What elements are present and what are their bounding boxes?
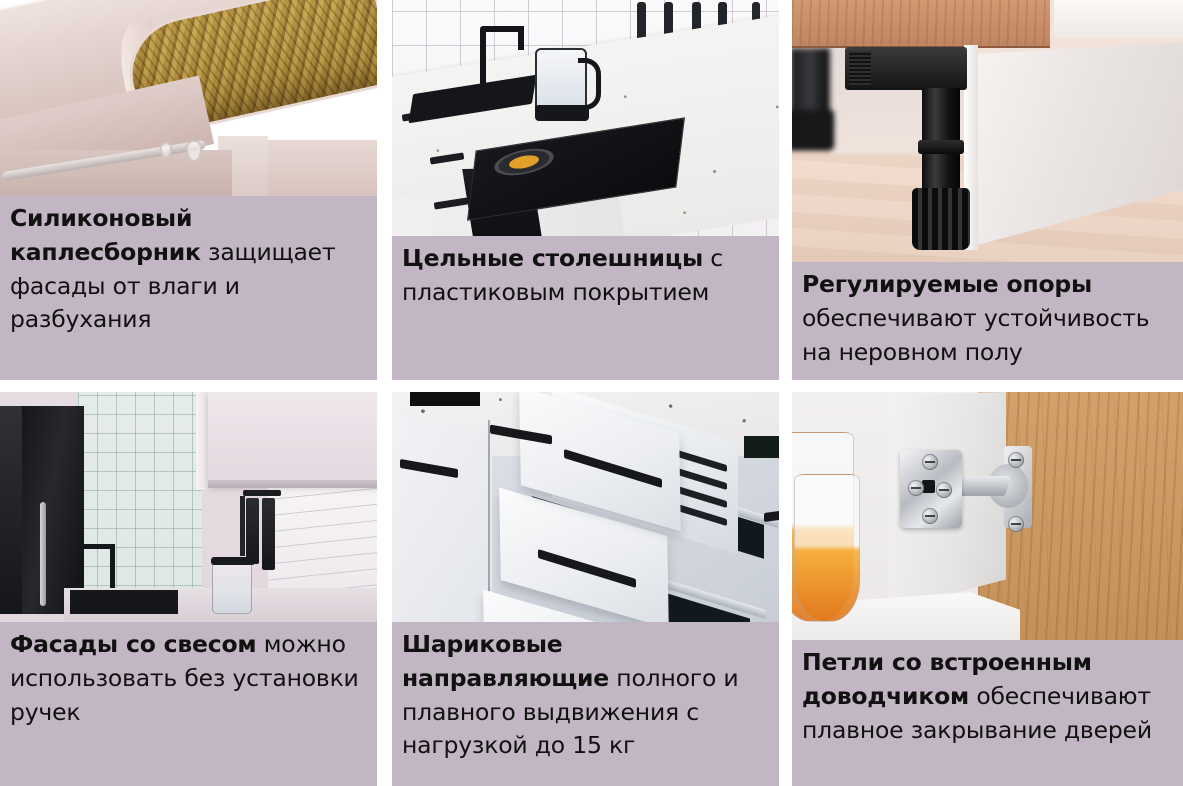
card-caption: Силиконовый каплесборник защищает фасады… <box>0 196 377 380</box>
caption-bold-text: Силиконовый каплесборник <box>10 204 201 266</box>
leg-bracket <box>845 47 967 90</box>
caption-bold-text: Фасады со свесом <box>10 630 256 658</box>
faucet <box>110 544 115 588</box>
card-caption: Петли со встроенным доводчиком обеспечив… <box>792 640 1183 786</box>
screw-icon <box>908 480 924 496</box>
kettle <box>535 48 587 120</box>
screw-icon <box>1008 516 1024 532</box>
feature-card-solid-countertops[interactable]: Цельные столешницы с пластиковым покрыти… <box>392 0 779 380</box>
faucet <box>480 30 486 86</box>
feature-card-ball-bearing-slides[interactable]: Шариковые направляющие полного и плавног… <box>392 392 779 786</box>
screw-icon <box>922 508 938 524</box>
infographic-grid: Силиконовый каплесборник защищает фасады… <box>0 0 1183 786</box>
card-caption: Цельные столешницы с пластиковым покрыти… <box>392 236 779 380</box>
sink <box>70 590 178 614</box>
screw-icon <box>936 482 952 498</box>
card-caption: Шариковые направляющие полного и плавног… <box>392 622 779 786</box>
caption-bold-text: Регулируемые опоры <box>802 270 1092 298</box>
caption-rest-text: обеспечивают устойчивость на неровном по… <box>802 304 1149 366</box>
screw-icon <box>1008 452 1024 468</box>
glass-jar <box>212 562 252 614</box>
feature-card-soft-close-hinges[interactable]: Петли со встроенным доводчиком обеспечив… <box>792 392 1183 786</box>
caption-bold-text: Цельные столешницы <box>402 244 703 272</box>
card-caption: Фасады со свесом можно использовать без … <box>0 622 377 786</box>
leg-foot <box>912 188 970 250</box>
caption-bold-text: Шариковые направляющие <box>402 630 609 692</box>
drinking-glass <box>794 474 860 622</box>
feature-card-adjustable-legs[interactable]: Регулируемые опоры обеспечивают устойчив… <box>792 0 1183 380</box>
feature-card-silicone-drip-catcher[interactable]: Силиконовый каплесборник защищает фасады… <box>0 0 377 380</box>
feature-card-overhang-facades[interactable]: Фасады со свесом можно использовать без … <box>0 392 377 786</box>
upper-cabinet-overhang <box>208 392 377 484</box>
screw-icon <box>922 454 938 470</box>
card-caption: Регулируемые опоры обеспечивают устойчив… <box>792 262 1183 380</box>
wood-cabinet-body <box>792 0 1050 48</box>
